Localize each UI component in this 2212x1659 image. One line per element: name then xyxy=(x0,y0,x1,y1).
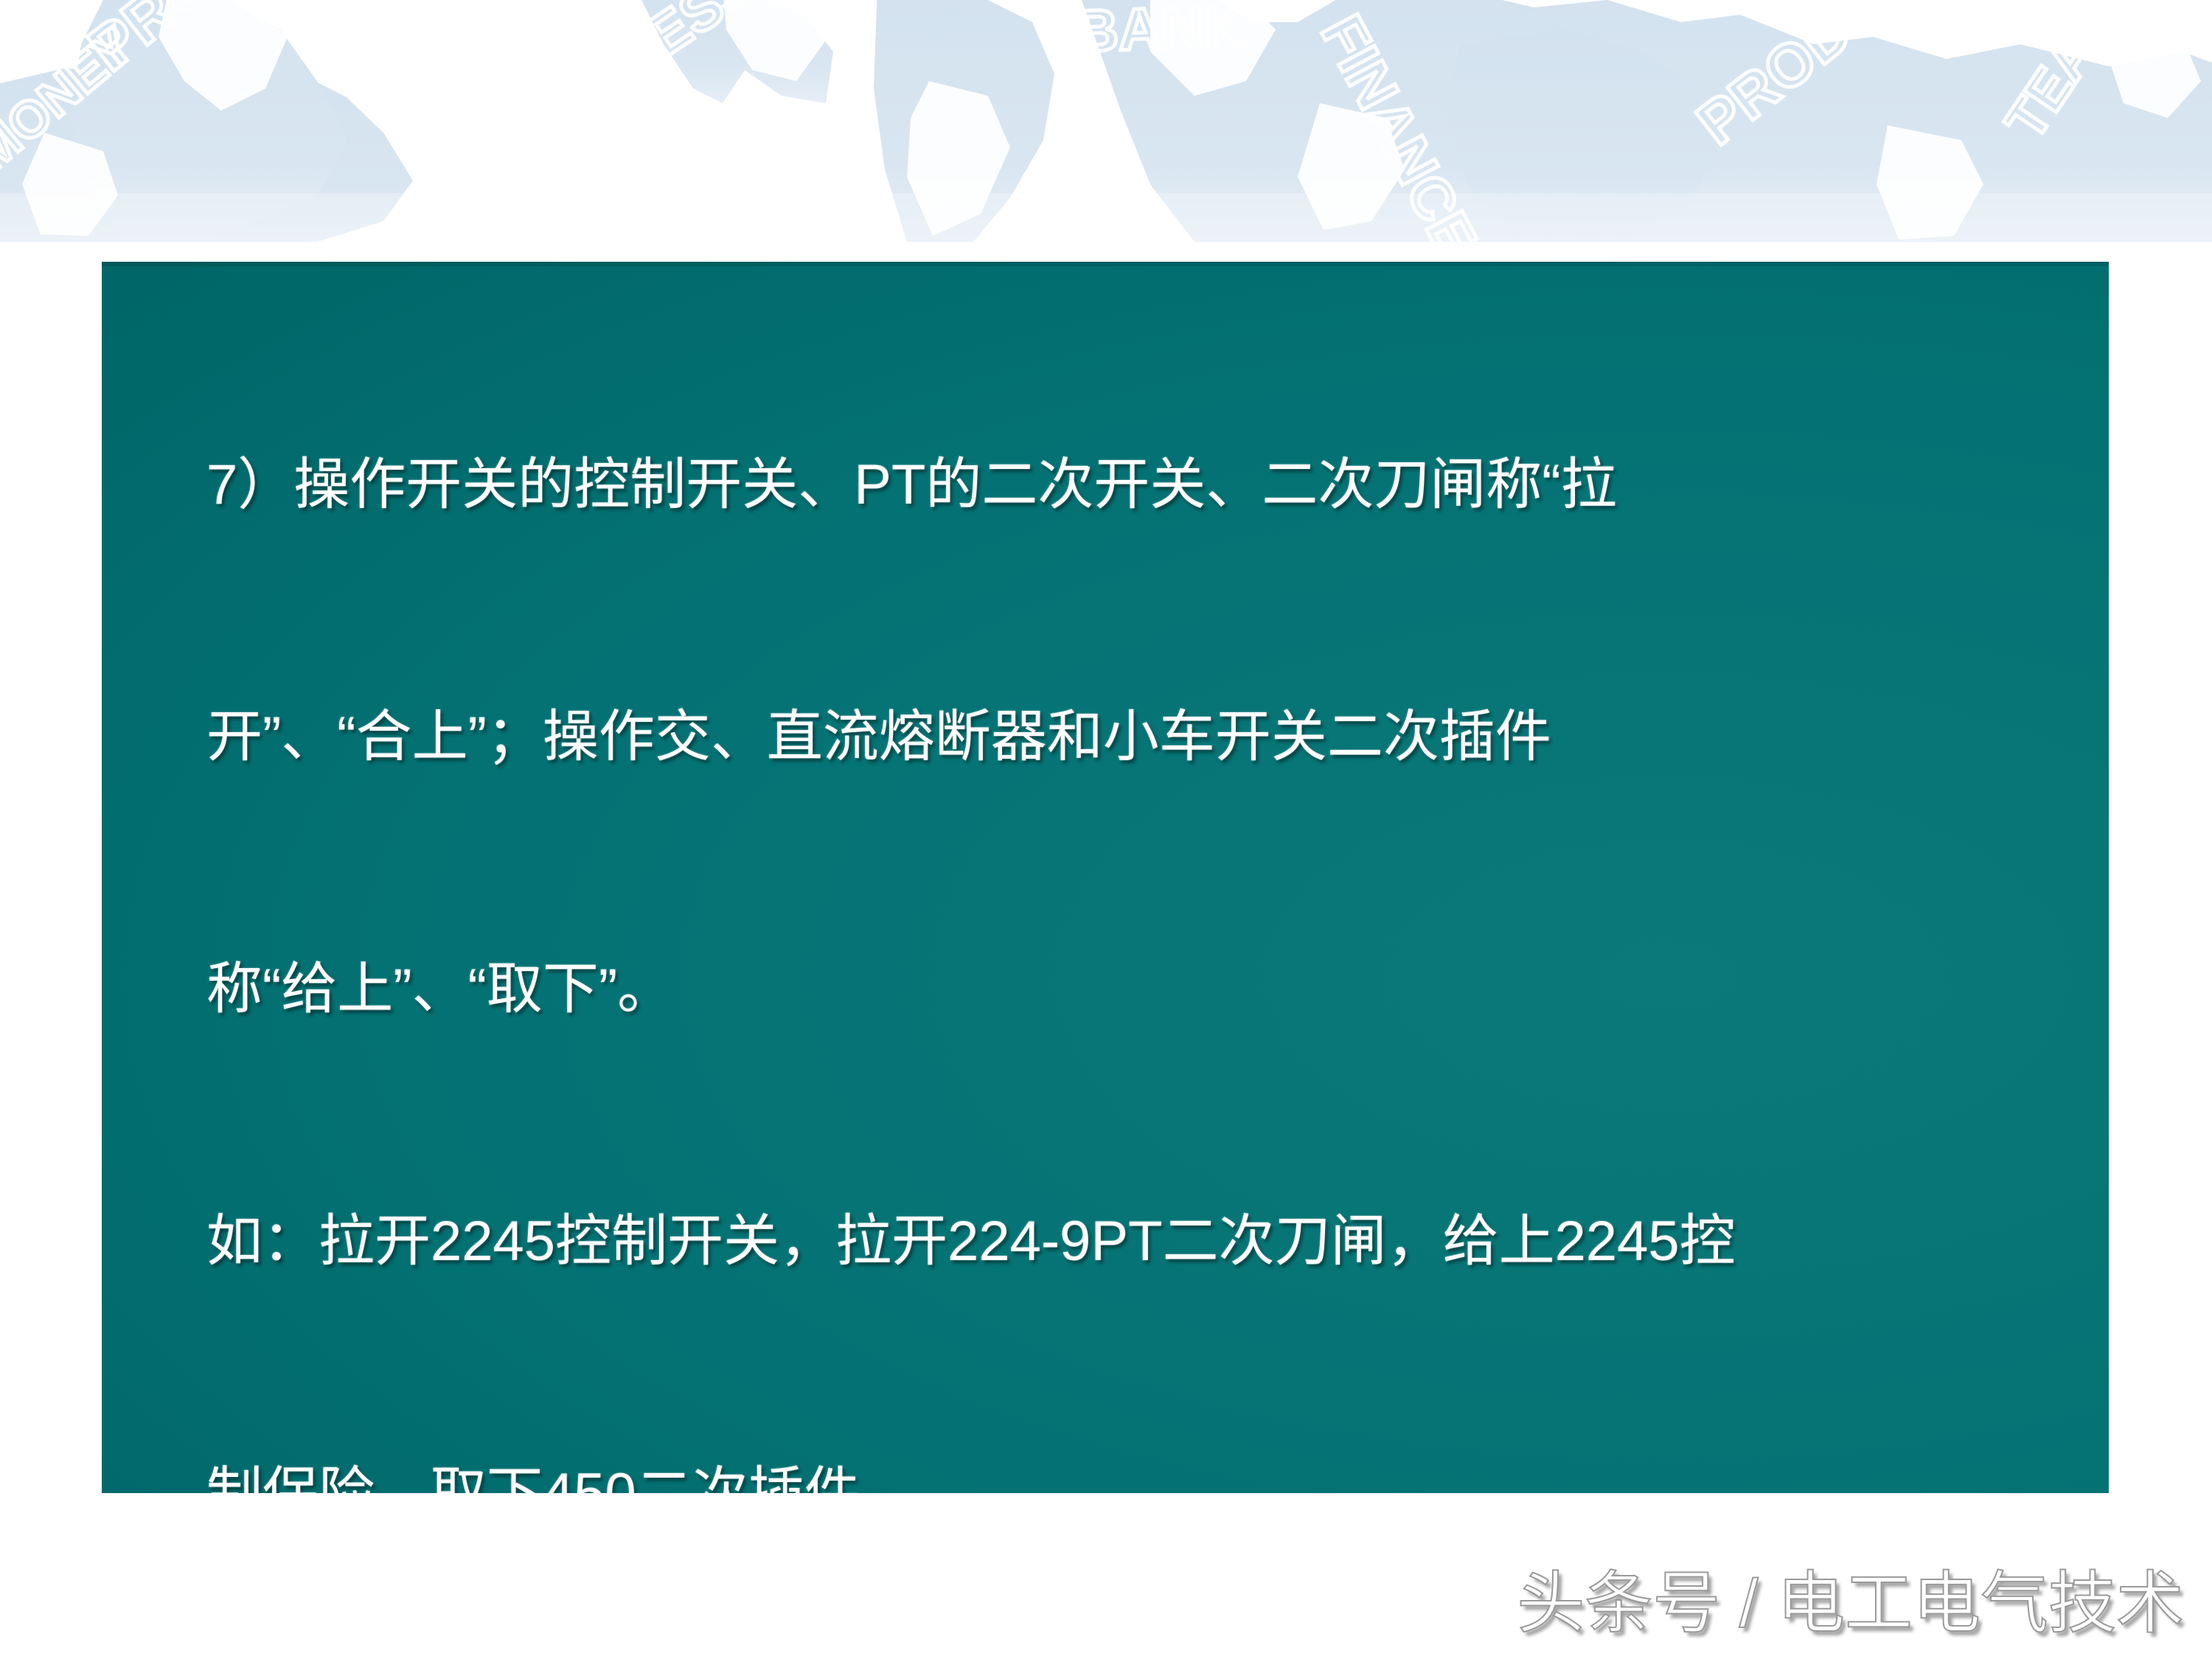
content-panel: 7）操作开关的控制开关、PT的二次开关、二次刀闸称“拉 开”、“合上”；操作交、… xyxy=(102,262,2109,1493)
text-line: 称“给上”、“取下”。 xyxy=(206,947,2079,1032)
text-line: 开”、“合上”；操作交、直流熔断器和小车开关二次插件 xyxy=(206,695,2079,779)
decor-word-bank: BANK xyxy=(1074,0,1247,64)
panel-body-text: 7）操作开关的控制开关、PT的二次开关、二次刀闸称“拉 开”、“合上”；操作交、… xyxy=(206,275,2079,1493)
text-line: 如：拉开2245控制开关，拉开224-9PT二次刀闸，给上2245控 xyxy=(206,1200,2079,1284)
header-world-map-graphic: PROFIT BUSINESS MONEY BANK FINANCE PRODU… xyxy=(0,0,2212,242)
footer-watermark: 头条号 / 电工电气技术 xyxy=(1517,1563,2184,1644)
text-line: 7）操作开关的控制开关、PT的二次开关、二次刀闸称“拉 xyxy=(206,443,2079,527)
text-line: 制保险，取下450二次插件。 xyxy=(206,1452,2079,1493)
slide-page: PROFIT BUSINESS MONEY BANK FINANCE PRODU… xyxy=(0,0,2212,1659)
